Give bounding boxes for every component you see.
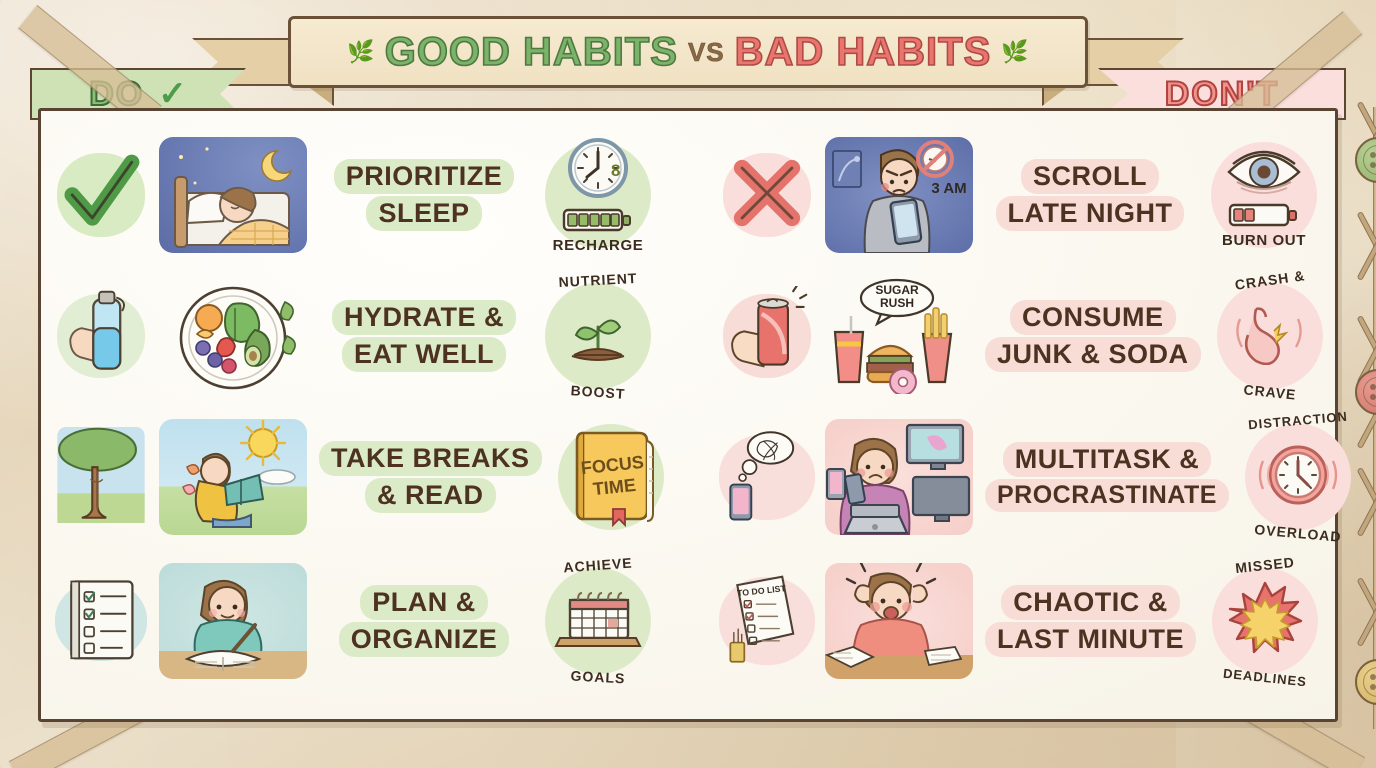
illustration-girl-reading bbox=[153, 415, 313, 539]
stomach-icon bbox=[1230, 303, 1310, 370]
good-habits-column: PRIORITIZE SLEEP bbox=[49, 111, 661, 719]
label-line: SCROLL bbox=[1021, 159, 1159, 194]
label-line: EAT WELL bbox=[342, 337, 506, 372]
label-line: TAKE BREAKS bbox=[319, 441, 542, 476]
label-line: JUNK & SODA bbox=[985, 337, 1201, 372]
illustration-panicked-girl-desk bbox=[819, 559, 979, 683]
title-ribbon: 🌿 GOOD HABITS VS BAD HABITS 🌿 bbox=[288, 16, 1088, 108]
badge-arc-top: NUTRIENT bbox=[535, 269, 662, 292]
badge-burn-out: BURN OUT bbox=[1201, 129, 1327, 261]
label-line: MULTITASK & bbox=[1003, 442, 1211, 477]
list-item[interactable]: HYDRATE & EAT WELL NUTRIENT bbox=[49, 266, 661, 406]
title-good-habits: GOOD HABITS bbox=[385, 30, 678, 75]
alarm-clock-icon bbox=[1257, 439, 1339, 516]
low-battery-icon bbox=[1228, 202, 1300, 233]
bad-habits-column: 3 AM SCROLL LATE NIGHT bbox=[715, 111, 1327, 719]
speech-line-1: SUGAR bbox=[875, 283, 919, 297]
label-line: & READ bbox=[365, 478, 496, 513]
sprout-seedling-icon bbox=[562, 303, 634, 370]
poster-background: 🌿 GOOD HABITS VS BAD HABITS 🌿 DO ✓ DON'T bbox=[0, 0, 1376, 768]
label-line: LATE NIGHT bbox=[996, 196, 1185, 231]
leaf-sprig-icon-2: 🌿 bbox=[1001, 39, 1028, 65]
desk-calendar-icon bbox=[552, 586, 644, 657]
list-item[interactable]: 3 AM SCROLL LATE NIGHT bbox=[715, 125, 1327, 265]
label-multitask-procrastinate: MULTITASK & PROCRASTINATE bbox=[979, 442, 1235, 512]
label-consume-junk-soda: CONSUME JUNK & SODA bbox=[979, 300, 1207, 373]
badge-distraction-overload: DISTRACTION bbox=[1235, 411, 1361, 543]
illustration-girl-sleeping bbox=[153, 133, 313, 257]
label-line: PROCRASTINATE bbox=[985, 479, 1229, 512]
label-line: HYDRATE & bbox=[332, 300, 516, 335]
illustration-girl-writing bbox=[153, 559, 313, 683]
cross-mark-icon bbox=[715, 145, 819, 246]
green-button[interactable] bbox=[1355, 137, 1376, 183]
label-scroll-late-night: SCROLL LATE NIGHT bbox=[979, 159, 1201, 232]
title-vs: VS bbox=[688, 37, 725, 68]
illustration-healthy-plate bbox=[153, 274, 313, 398]
label-line: CONSUME bbox=[1010, 300, 1176, 335]
illustration-time-label: 3 AM bbox=[931, 180, 966, 197]
list-item[interactable]: TO DO LIST bbox=[715, 551, 1327, 691]
label-prioritize-sleep: PRIORITIZE SLEEP bbox=[313, 159, 535, 232]
badge-arc-bottom: GOALS bbox=[535, 666, 662, 689]
badge-caption: RECHARGE bbox=[553, 238, 644, 254]
list-item[interactable]: PRIORITIZE SLEEP bbox=[49, 125, 661, 265]
hand-bottle-spacer bbox=[49, 286, 153, 387]
label-line: PLAN & bbox=[360, 585, 488, 620]
label-hydrate-eat-well: HYDRATE & EAT WELL bbox=[313, 300, 535, 373]
full-battery-icon bbox=[562, 207, 634, 238]
label-line: ORGANIZE bbox=[339, 622, 510, 657]
illustration-junk-food: SUGAR RUSH bbox=[819, 274, 979, 398]
label-line: LAST MINUTE bbox=[985, 622, 1196, 657]
illustration-boy-phone-night: 3 AM bbox=[819, 133, 979, 257]
illustration-checklist bbox=[49, 571, 153, 672]
label-take-breaks-read: TAKE BREAKS & READ bbox=[313, 441, 548, 514]
badge-missed-deadlines: MISSED DEADLINES bbox=[1202, 555, 1328, 687]
illustration-tree bbox=[49, 427, 153, 528]
list-item[interactable]: PLAN & ORGANIZE ACHIEVE bbox=[49, 551, 661, 691]
list-item[interactable]: SUGAR RUSH bbox=[715, 266, 1327, 406]
illustration-stressed-multitasker bbox=[819, 415, 979, 539]
leaf-sprig-icon: 🌿 bbox=[347, 39, 374, 65]
explosion-burst-icon bbox=[1222, 581, 1308, 662]
label-line: SLEEP bbox=[366, 196, 481, 231]
clock-8-hours-icon: 8 bbox=[561, 136, 635, 209]
list-item[interactable]: TAKE BREAKS & READ FOCUS TIME bbox=[49, 407, 661, 547]
badge-achieve-goals: ACHIEVE bbox=[535, 555, 661, 687]
title-bad-habits: BAD HABITS bbox=[735, 30, 992, 75]
list-item[interactable]: MULTITASK & PROCRASTINATE DISTRACTION bbox=[715, 407, 1327, 547]
badge-crash-crave: CRASH & CRAVE bbox=[1207, 270, 1333, 402]
label-line: PRIORITIZE bbox=[334, 159, 515, 194]
tired-eye-icon bbox=[1221, 142, 1307, 203]
badge-caption: BURN OUT bbox=[1222, 233, 1306, 249]
badge-focus-time: FOCUS TIME bbox=[548, 411, 674, 543]
badge-arc-bottom: BOOST bbox=[535, 380, 662, 405]
illustration-soda-can bbox=[715, 286, 819, 387]
badge-recharge: 8 RECHA bbox=[535, 129, 661, 261]
yellow-button[interactable] bbox=[1355, 659, 1376, 705]
label-plan-organize: PLAN & ORGANIZE bbox=[313, 585, 535, 658]
illustration-todo-list: TO DO LIST bbox=[715, 571, 819, 672]
badge-nutrient-boost: NUTRIENT BOOST bbox=[535, 270, 661, 402]
book-icon: FOCUS TIME bbox=[563, 423, 659, 532]
illustration-thought-clouds bbox=[715, 427, 819, 528]
speech-line-2: RUSH bbox=[880, 296, 914, 310]
check-mark-icon bbox=[49, 145, 153, 246]
svg-text:8: 8 bbox=[611, 161, 620, 180]
label-line: CHAOTIC & bbox=[1001, 585, 1180, 620]
poster-card: PRIORITIZE SLEEP bbox=[38, 108, 1338, 722]
label-chaotic-last-minute: CHAOTIC & LAST MINUTE bbox=[979, 585, 1202, 658]
